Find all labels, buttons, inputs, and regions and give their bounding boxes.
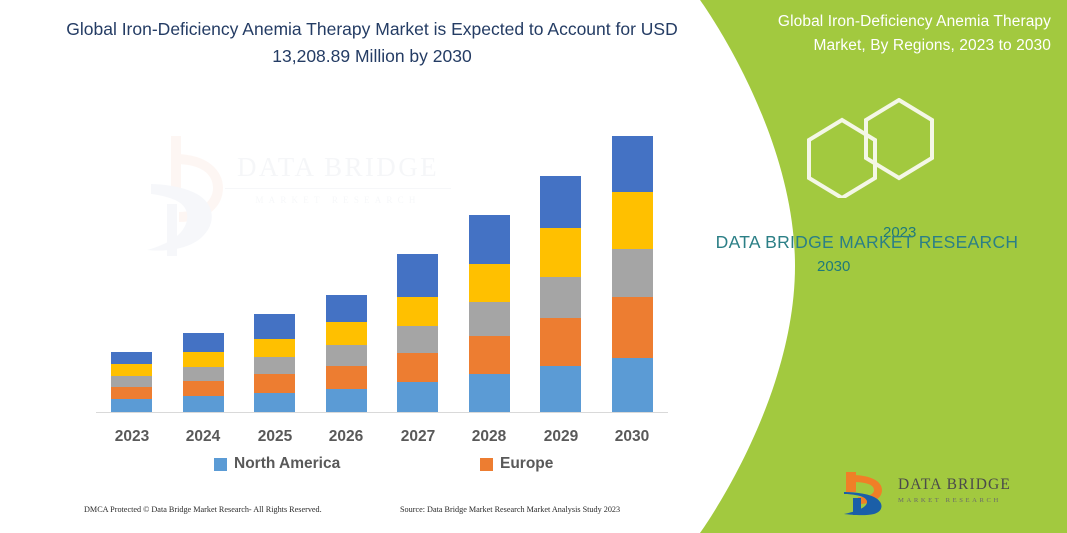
x-axis-label-2024: 2024 bbox=[173, 428, 233, 446]
brand-logo-sub: MARKET RESEARCH bbox=[898, 495, 1048, 506]
x-axis-label-2025: 2025 bbox=[245, 428, 305, 446]
bar-segment bbox=[183, 381, 224, 396]
bar-segment bbox=[540, 318, 581, 366]
bar-segment bbox=[183, 333, 224, 352]
x-axis-labels: 20232024202520262027202820292030 bbox=[96, 428, 668, 452]
bar-segment bbox=[612, 249, 653, 297]
bar-segment bbox=[183, 367, 224, 381]
bar-segment bbox=[612, 192, 653, 249]
x-axis-label-2029: 2029 bbox=[531, 428, 591, 446]
bar-segment bbox=[254, 339, 295, 357]
bar-segment bbox=[469, 215, 510, 264]
x-axis-label-2026: 2026 bbox=[316, 428, 376, 446]
bar-2023 bbox=[111, 352, 152, 412]
bar-2025 bbox=[254, 314, 295, 412]
legend-label: North America bbox=[234, 455, 340, 473]
chart-legend: North AmericaEurope bbox=[96, 455, 668, 481]
legend-item-europe[interactable]: Europe bbox=[480, 455, 553, 473]
bar-segment bbox=[254, 393, 295, 412]
x-axis-label-2023: 2023 bbox=[102, 428, 162, 446]
bar-segment bbox=[254, 314, 295, 339]
footer-copyright: DMCA Protected © Data Bridge Market Rese… bbox=[84, 505, 322, 514]
bar-2027 bbox=[397, 254, 438, 412]
bar-segment bbox=[469, 264, 510, 302]
bar-2028 bbox=[469, 215, 510, 412]
bar-chart-plot-area bbox=[96, 120, 668, 413]
bar-segment bbox=[397, 382, 438, 412]
bar-segment bbox=[111, 399, 152, 412]
x-axis-label-2028: 2028 bbox=[459, 428, 519, 446]
bar-segment bbox=[111, 364, 152, 376]
bar-segment bbox=[540, 366, 581, 412]
bar-segment bbox=[469, 336, 510, 374]
bar-segment bbox=[111, 376, 152, 387]
hexagon-outlines-icon bbox=[787, 98, 967, 198]
legend-item-north-america[interactable]: North America bbox=[214, 455, 340, 473]
bar-segment bbox=[111, 387, 152, 399]
footer: DMCA Protected © Data Bridge Market Rese… bbox=[62, 505, 682, 525]
bar-segment bbox=[397, 353, 438, 382]
green-panel-content: Global Iron-Deficiency Anemia Therapy Ma… bbox=[667, 0, 1067, 533]
hexagon-label-2030: 2030 bbox=[817, 258, 850, 275]
bar-segment bbox=[183, 352, 224, 367]
x-axis-label-2030: 2030 bbox=[602, 428, 662, 446]
right-green-panel: Global Iron-Deficiency Anemia Therapy Ma… bbox=[667, 0, 1067, 533]
legend-swatch-icon bbox=[214, 458, 227, 471]
bar-segment bbox=[254, 357, 295, 374]
x-axis-line bbox=[96, 412, 668, 413]
hexagon-badges: 2030 2023 bbox=[787, 98, 967, 198]
panel-brand-text: DATA BRIDGE MARKET RESEARCH bbox=[707, 228, 1027, 256]
infographic-canvas: Global Iron-Deficiency Anemia Therapy Ma… bbox=[0, 0, 1067, 533]
bar-2026 bbox=[326, 295, 367, 412]
bar-segment bbox=[540, 176, 581, 228]
bar-segment bbox=[326, 322, 367, 345]
legend-swatch-icon bbox=[480, 458, 493, 471]
bar-segment bbox=[397, 254, 438, 297]
bar-segment bbox=[397, 297, 438, 326]
bar-2024 bbox=[183, 333, 224, 412]
x-axis-label-2027: 2027 bbox=[388, 428, 448, 446]
page-title: Global Iron-Deficiency Anemia Therapy Ma… bbox=[62, 16, 682, 70]
bar-segment bbox=[469, 302, 510, 336]
bar-segment bbox=[326, 345, 367, 366]
bar-2030 bbox=[612, 136, 653, 412]
bar-segment bbox=[612, 297, 653, 358]
brand-logo-main: DATA BRIDGE bbox=[898, 476, 1048, 494]
data-bridge-logo-icon bbox=[842, 470, 890, 516]
brand-logo-text: DATA BRIDGE MARKET RESEARCH bbox=[898, 476, 1048, 506]
bar-segment bbox=[469, 374, 510, 412]
bar-segment bbox=[326, 366, 367, 389]
bar-segment bbox=[111, 352, 152, 364]
bar-segment bbox=[397, 326, 438, 353]
bar-2029 bbox=[540, 176, 581, 412]
footer-source: Source: Data Bridge Market Research Mark… bbox=[400, 505, 620, 514]
brand-logo: DATA BRIDGE MARKET RESEARCH bbox=[842, 470, 1052, 522]
legend-label: Europe bbox=[500, 455, 553, 473]
bar-segment bbox=[540, 228, 581, 277]
bar-segment bbox=[183, 396, 224, 412]
panel-title: Global Iron-Deficiency Anemia Therapy Ma… bbox=[761, 10, 1051, 58]
bar-segment bbox=[326, 295, 367, 322]
bar-segment bbox=[254, 374, 295, 393]
bar-segment bbox=[612, 136, 653, 192]
bar-segment bbox=[326, 389, 367, 412]
bar-segment bbox=[612, 358, 653, 412]
bar-segment bbox=[540, 277, 581, 318]
